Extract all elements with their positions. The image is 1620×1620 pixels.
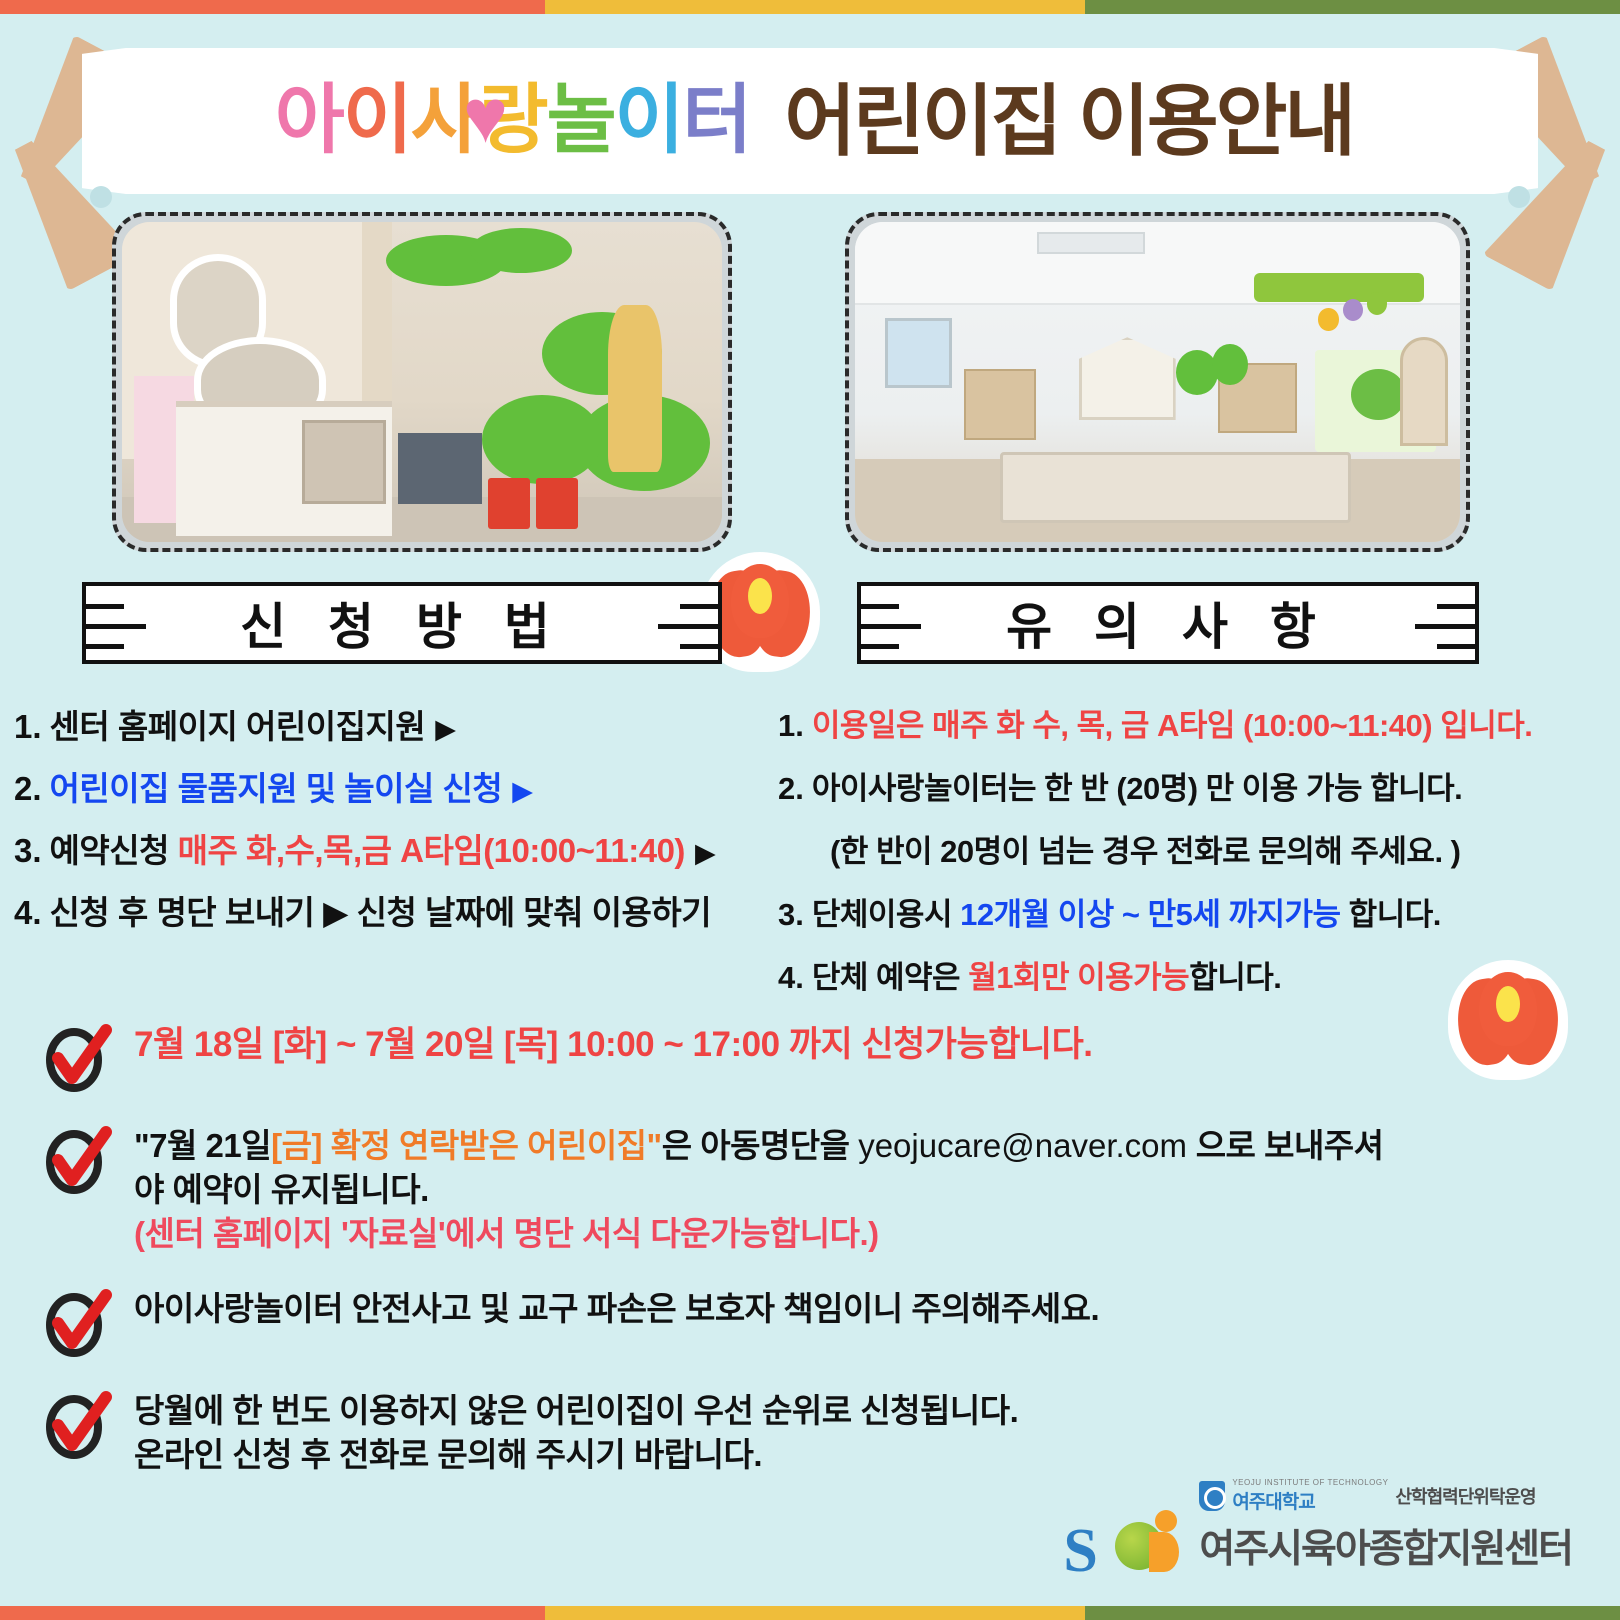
bottom-color-bar — [0, 1606, 1620, 1620]
list-number: 2. — [14, 770, 42, 808]
arrow-icon: ▶ — [435, 714, 456, 745]
list-number: 3. — [778, 897, 804, 933]
check-circle-icon — [40, 1022, 118, 1094]
section-header-apply-method: 신 청 방 법 — [82, 582, 722, 664]
arrow-icon: ▶ — [512, 776, 533, 807]
text-run: [금] — [271, 1127, 322, 1164]
checklist-line: 7월 18일 [화] ~ 7월 20일 [목] 10:00 ~ 17:00 까지… — [134, 1022, 1093, 1069]
top-color-bar — [0, 0, 1620, 14]
checklist-line: "7월 21일[금] 확정 연락받은 어린이집"은 아동명단을 yeojucar… — [134, 1124, 1384, 1168]
playroom-photo-left-image — [122, 222, 722, 542]
text-run: 매주 화,수,목,금 A타임(10:00~11:40) — [178, 832, 685, 869]
checklist-line: 당월에 한 번도 이용하지 않은 어린이집이 우선 순위로 신청됩니다. — [134, 1389, 1018, 1433]
check-circle-icon — [40, 1287, 118, 1359]
checklist-item: 아이사랑놀이터 안전사고 및 교구 파손은 보호자 책임이니 주의해주세요. — [40, 1287, 1600, 1359]
bottom-color-bar-red-segment — [0, 1606, 545, 1620]
section-header-notice-label: 유 의 사 항 — [1006, 587, 1330, 659]
text-run: ▶ — [314, 894, 356, 931]
text-run: 신청 날짜에 맞춰 이용하기 — [357, 894, 711, 931]
color-bar-red-segment — [0, 0, 545, 14]
text-run: 합니다. — [1189, 960, 1281, 995]
list-number: 4. — [14, 894, 42, 932]
text-run: 예약신청 — [50, 832, 178, 869]
apply-method-list: 1.센터 홈페이지 어린이집지원▶2.어린이집 물품지원 및 놀이실 신청▶3.… — [14, 700, 774, 948]
color-bar-green-segment — [1085, 0, 1620, 14]
notice-item: (한 반이 20명이 넘는 경우 전화로 문의해 주세요. ) — [778, 826, 1618, 871]
checklist-line: 아이사랑놀이터 안전사고 및 교구 파손은 보호자 책임이니 주의해주세요. — [134, 1287, 1099, 1331]
bottom-color-bar-green-segment — [1085, 1606, 1620, 1620]
text-run: 확정 연락받은 어린이집" — [322, 1127, 662, 1164]
checklist-line: 야 예약이 유지됩니다. — [134, 1168, 1384, 1212]
text-run: 12개월 이상 ~ 만5세 까지가능 — [960, 897, 1340, 932]
section-header-notice: 유 의 사 항 — [857, 582, 1479, 664]
playroom-photo-left — [112, 212, 732, 552]
list-text: 단체 예약은 월1회만 이용가능합니다. — [812, 952, 1282, 997]
list-number: 3. — [14, 832, 42, 870]
section-header-apply-method-label: 신 청 방 법 — [240, 587, 564, 659]
apply-method-item: 3.예약신청 매주 화,수,목,금 A타임(10:00~11:40)▶ — [14, 824, 774, 872]
apply-method-item: 1.센터 홈페이지 어린이집지원▶ — [14, 700, 774, 748]
notice-list: 1.이용일은 매주 화 수, 목, 금 A타임 (10:00~11:40) 입니… — [778, 700, 1618, 1015]
list-text: 어린이집 물품지원 및 놀이실 신청 — [50, 762, 503, 810]
text-run: 7월 18일 [화] ~ 7월 20일 [목] 10:00 ~ 17:00 까지… — [134, 1025, 1093, 1064]
checklist-item: "7월 21일[금] 확정 연락받은 어린이집"은 아동명단을 yeojucar… — [40, 1124, 1600, 1257]
list-text: (한 반이 20명이 넘는 경우 전화로 문의해 주세요. ) — [830, 826, 1461, 871]
footer-branding: S YEOJU INSTITUTE OF TECHNOLOGY 여주대학교 산학… — [1063, 1478, 1572, 1574]
header-banner: ♥ 아 이 사 랑 놀 이 터 어린이집 이용안내 — [0, 14, 1620, 204]
logo-char-i: 이 — [343, 86, 411, 156]
text-run: 월1회만 이용가능 — [968, 960, 1189, 995]
logo-char-a: 아 — [275, 86, 343, 156]
text-run: 으로 보내주셔 — [1187, 1127, 1384, 1164]
text-run: 온라인 신청 후 전화로 문의해 주시기 바랍니다. — [134, 1436, 762, 1473]
logo-char-nol: 놀 — [547, 86, 615, 156]
logo-char-teo: 터 — [682, 86, 750, 156]
checklist-text: 7월 18일 [화] ~ 7월 20일 [목] 10:00 ~ 17:00 까지… — [134, 1022, 1093, 1069]
logo-char-i2: 이 — [615, 86, 683, 156]
university-shield-icon — [1199, 1481, 1225, 1511]
list-number: 1. — [778, 708, 804, 744]
text-run: 야 예약이 유지됩니다. — [134, 1171, 429, 1208]
list-number: 2. — [778, 771, 804, 807]
list-number: 4. — [778, 960, 804, 996]
text-run: 합니다. — [1341, 897, 1441, 932]
list-text: 이용일은 매주 화 수, 목, 금 A타임 (10:00~11:40) 입니다. — [812, 700, 1533, 745]
notice-item: 1.이용일은 매주 화 수, 목, 금 A타임 (10:00~11:40) 입니… — [778, 700, 1618, 745]
notice-item: 4.단체 예약은 월1회만 이용가능합니다. — [778, 952, 1618, 997]
list-text: 아이사랑놀이터는 한 반 (20명) 만 이용 가능 합니다. — [812, 763, 1462, 808]
apply-method-item: 4.신청 후 명단 보내기 ▶ 신청 날짜에 맞춰 이용하기 — [14, 886, 774, 934]
list-text: 신청 후 명단 보내기 ▶ 신청 날짜에 맞춰 이용하기 — [50, 886, 712, 934]
soi-logo-icon: S — [1063, 1502, 1183, 1574]
list-text: 단체이용시 12개월 이상 ~ 만5세 까지가능 합니다. — [812, 889, 1441, 934]
text-run: (한 반이 20명이 넘는 경우 전화로 문의해 주세요. ) — [830, 834, 1461, 869]
text-run: yeojucare@naver.com — [858, 1127, 1187, 1164]
check-circle-icon — [40, 1389, 118, 1461]
daycare-photo-right — [845, 212, 1470, 552]
text-run: 이용일은 매주 화 수, 목, 금 A타임 (10:00~11:40) 입니다. — [812, 708, 1533, 743]
text-run: 당월에 한 번도 이용하지 않은 어린이집이 우선 순위로 신청됩니다. — [134, 1392, 1018, 1429]
text-run: 단체이용시 — [812, 897, 960, 932]
checklist-line: 온라인 신청 후 전화로 문의해 주시기 바랍니다. — [134, 1433, 1018, 1477]
text-run: (센터 홈페이지 '자료실'에서 명단 서식 다운가능합니다.) — [134, 1215, 879, 1252]
daycare-photo-right-image — [855, 222, 1460, 542]
operation-note: 산학협력단위탁운영 — [1395, 1483, 1535, 1509]
banner-grommet-right — [1508, 186, 1530, 208]
center-name: 여주시육아종합지원센터 — [1199, 1518, 1572, 1574]
bottom-color-bar-yellow-segment — [545, 1606, 1085, 1620]
university-name: 여주대학교 — [1232, 1492, 1314, 1513]
heart-icon: ♥ — [463, 82, 506, 152]
checklist-line: (센터 홈페이지 '자료실'에서 명단 서식 다운가능합니다.) — [134, 1212, 1384, 1256]
checklist-text: "7월 21일[금] 확정 연락받은 어린이집"은 아동명단을 yeojucar… — [134, 1124, 1384, 1257]
university-name-english: YEOJU INSTITUTE OF TECHNOLOGY — [1232, 1478, 1388, 1487]
text-run: 센터 홈페이지 어린이집지원 — [50, 708, 426, 745]
check-circle-icon — [40, 1124, 118, 1196]
list-text: 예약신청 매주 화,수,목,금 A타임(10:00~11:40) — [50, 824, 685, 872]
checklist: 7월 18일 [화] ~ 7월 20일 [목] 10:00 ~ 17:00 까지… — [40, 1022, 1600, 1507]
text-run: 아이사랑놀이터 안전사고 및 교구 파손은 보호자 책임이니 주의해주세요. — [134, 1290, 1099, 1327]
text-run: 어린이집 물품지원 및 놀이실 신청 — [50, 770, 503, 807]
apply-method-item: 2.어린이집 물품지원 및 놀이실 신청▶ — [14, 762, 774, 810]
banner-panel: ♥ 아 이 사 랑 놀 이 터 어린이집 이용안내 — [82, 48, 1538, 194]
ilove-playground-logo: ♥ 아 이 사 랑 놀 이 터 — [267, 86, 750, 156]
text-run: "7월 21일 — [134, 1127, 271, 1164]
checklist-text: 아이사랑놀이터 안전사고 및 교구 파손은 보호자 책임이니 주의해주세요. — [134, 1287, 1099, 1331]
text-run: 단체 예약은 — [812, 960, 968, 995]
text-run: 아이사랑놀이터는 한 반 (20명) 만 이용 가능 합니다. — [812, 771, 1462, 806]
notice-item: 3.단체이용시 12개월 이상 ~ 만5세 까지가능 합니다. — [778, 889, 1618, 934]
list-number: 1. — [14, 708, 42, 746]
page-title: 어린이집 이용안내 — [784, 82, 1353, 160]
text-run: 신청 후 명단 보내기 — [50, 894, 315, 931]
checklist-text: 당월에 한 번도 이용하지 않은 어린이집이 우선 순위로 신청됩니다.온라인 … — [134, 1389, 1018, 1477]
banner-grommet-left — [90, 186, 112, 208]
list-text: 센터 홈페이지 어린이집지원 — [50, 700, 426, 748]
color-bar-yellow-segment — [545, 0, 1085, 14]
checklist-item: 7월 18일 [화] ~ 7월 20일 [목] 10:00 ~ 17:00 까지… — [40, 1022, 1600, 1094]
checklist-item: 당월에 한 번도 이용하지 않은 어린이집이 우선 순위로 신청됩니다.온라인 … — [40, 1389, 1600, 1477]
text-run: 은 아동명단을 — [662, 1127, 859, 1164]
notice-item: 2.아이사랑놀이터는 한 반 (20명) 만 이용 가능 합니다. — [778, 763, 1618, 808]
arrow-icon: ▶ — [695, 838, 716, 869]
